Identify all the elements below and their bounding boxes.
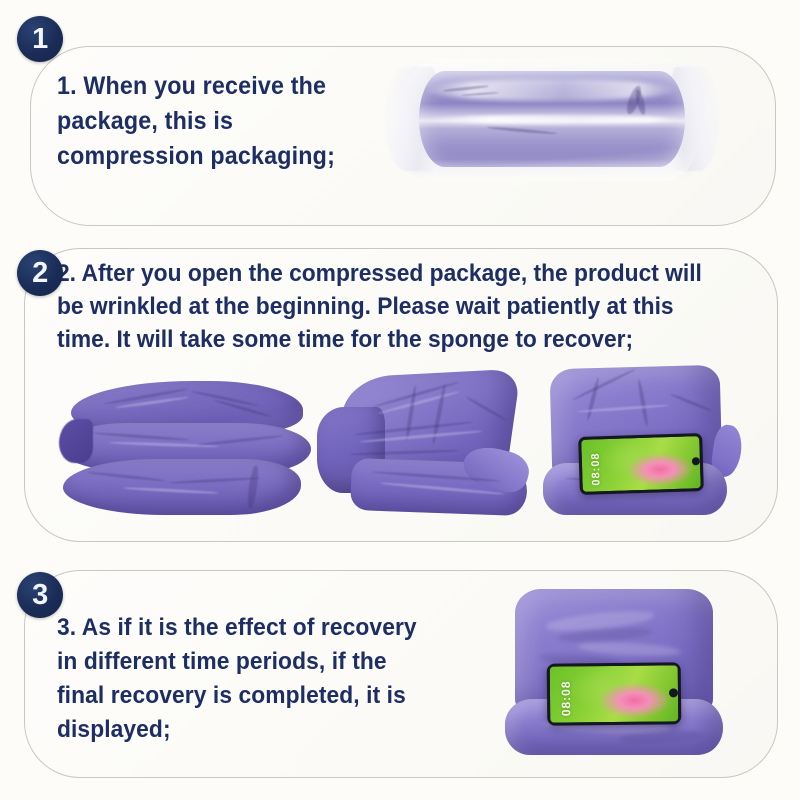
phone-device: 08:08 bbox=[547, 662, 682, 725]
instruction-page: 1. When you receive the package, this is… bbox=[0, 0, 800, 800]
step-card-1: 1. When you receive the package, this is… bbox=[30, 46, 776, 226]
phone-clock-label: 08:08 bbox=[590, 452, 603, 486]
compressed-roll-image bbox=[391, 53, 711, 185]
bundle-bottom-roll bbox=[63, 459, 301, 515]
phone-screen: 08:08 bbox=[581, 436, 701, 492]
phone-device: 08:08 bbox=[578, 433, 704, 495]
stage-b-wedge-image bbox=[313, 373, 531, 521]
phone-screen: 08:08 bbox=[550, 665, 679, 722]
step-card-3: 3. As if it is the effect of recovery in… bbox=[24, 570, 778, 778]
final-stand-with-phone-image: 08:08 bbox=[499, 589, 729, 761]
step-card-2: 2. After you open the compressed package… bbox=[24, 248, 778, 542]
phone-clock-label: 08:08 bbox=[559, 680, 573, 716]
phone-camera-notch-icon bbox=[669, 688, 678, 697]
step-badge-1: 1 bbox=[17, 16, 63, 62]
stage-c-stand-with-phone-image: 08:08 bbox=[529, 367, 741, 527]
stage-a-wrinkled-bundle-image bbox=[63, 379, 313, 519]
bundle-tail bbox=[59, 419, 93, 463]
step-1-text: 1. When you receive the package, this is… bbox=[57, 69, 373, 174]
step-badge-2: 2 bbox=[17, 250, 63, 296]
step-3-text: 3. As if it is the effect of recovery in… bbox=[57, 611, 494, 747]
roll-seam bbox=[425, 115, 681, 124]
step-2-text: 2. After you open the compressed package… bbox=[57, 257, 778, 356]
step-badge-3: 3 bbox=[17, 572, 63, 618]
